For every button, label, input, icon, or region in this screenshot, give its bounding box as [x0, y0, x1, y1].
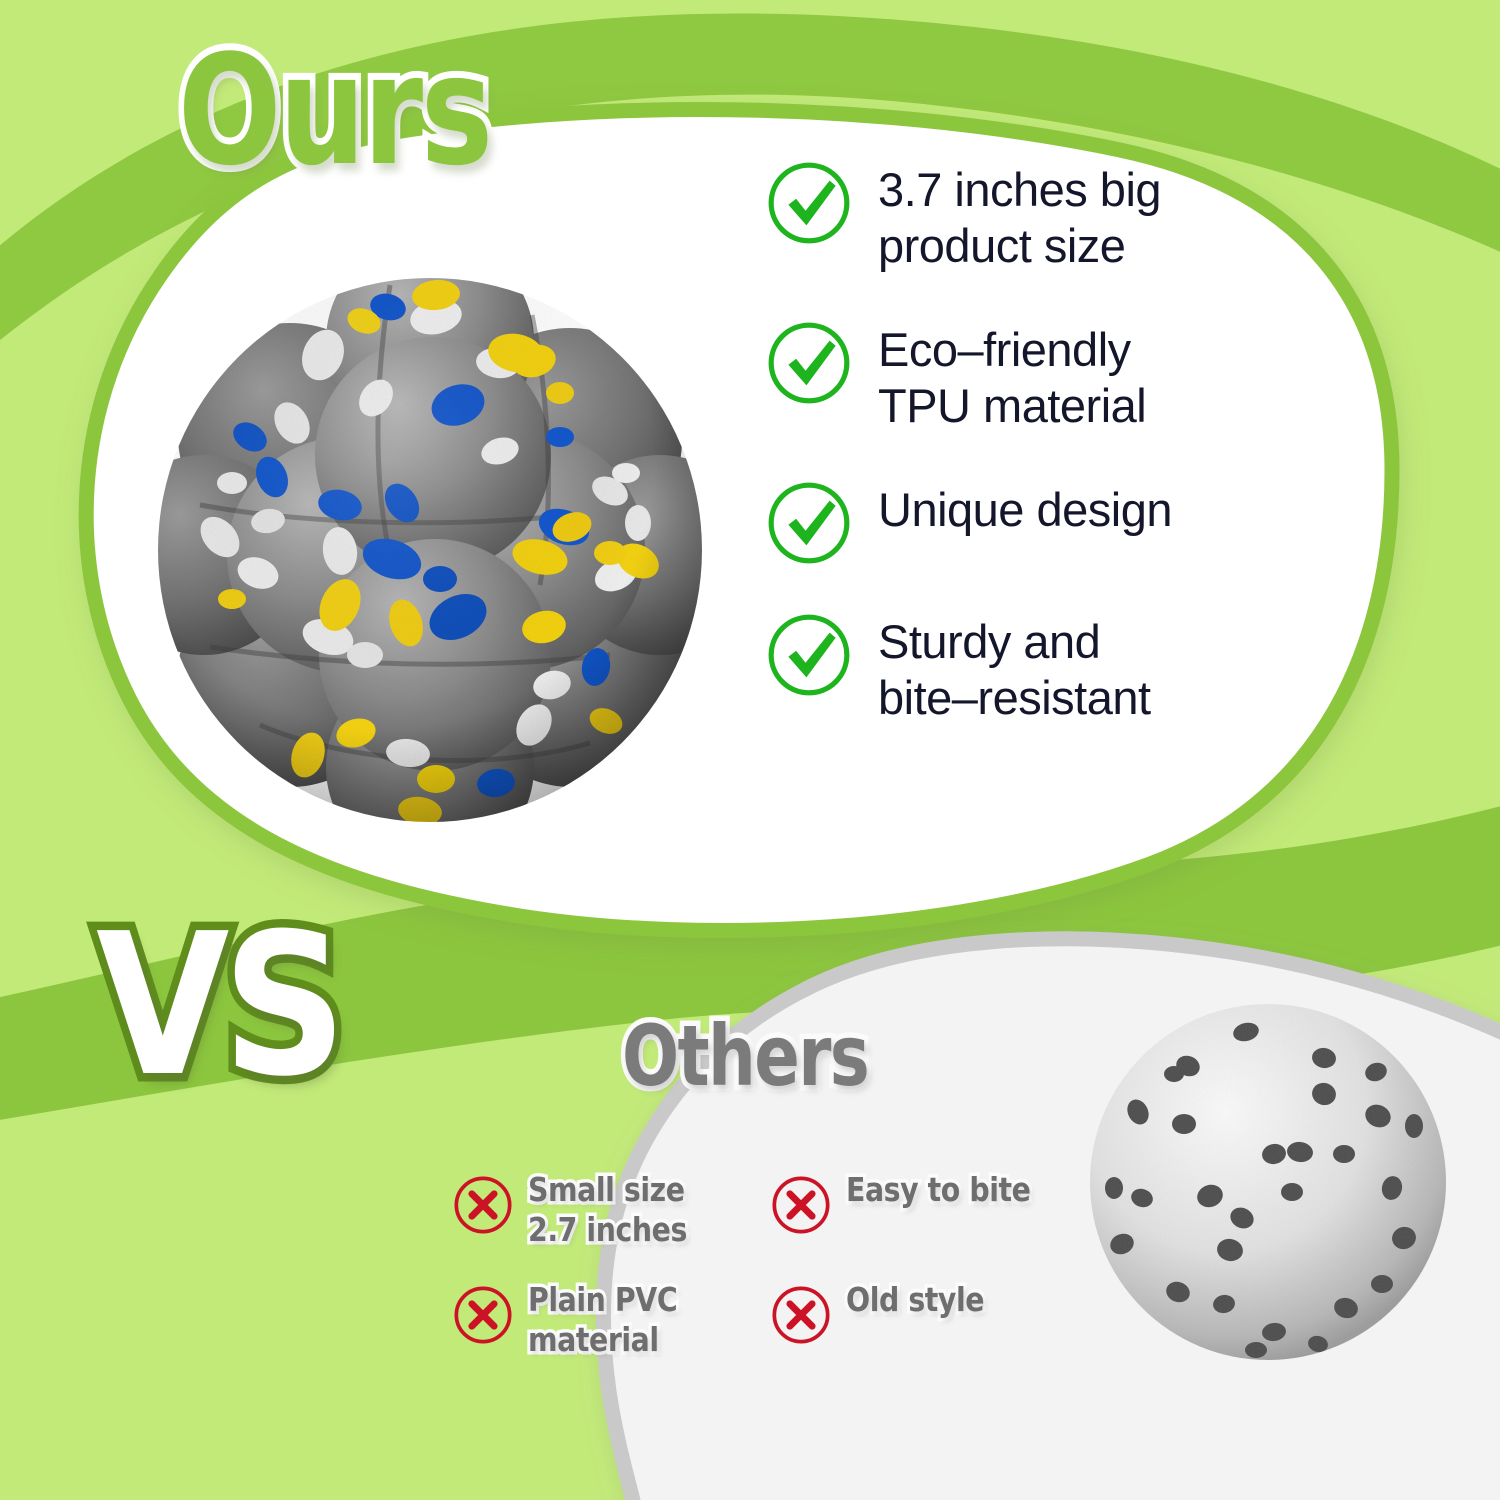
check-circle-icon	[766, 160, 852, 246]
check-circle-icon	[766, 612, 852, 698]
list-item: Small size 2.7 inches	[452, 1168, 752, 1250]
others-title: Others	[622, 1014, 868, 1098]
others-drawback-list: Small size 2.7 inches Easy to bite Plain…	[452, 1168, 1072, 1360]
list-item: Easy to bite	[770, 1168, 1070, 1250]
feature-label: Eco–friendly TPU material	[878, 316, 1146, 434]
vs-badge: VS	[96, 908, 340, 1104]
feature-label: 3.7 inches big product size	[878, 156, 1161, 274]
list-item: Sturdy and bite–resistant	[766, 608, 1326, 726]
x-circle-icon	[770, 1174, 832, 1236]
list-item: Plain PVC material	[452, 1278, 752, 1360]
list-item: 3.7 inches big product size	[766, 156, 1326, 274]
list-item: Unique design	[766, 476, 1326, 566]
drawback-label: Small size 2.7 inches	[528, 1168, 687, 1250]
ours-product-ball	[140, 255, 720, 835]
list-item: Eco–friendly TPU material	[766, 316, 1326, 434]
feature-label: Sturdy and bite–resistant	[878, 608, 1151, 726]
check-circle-icon	[766, 480, 852, 566]
x-circle-icon	[770, 1284, 832, 1346]
drawback-label: Old style	[846, 1278, 984, 1320]
infographic-canvas: Ours VS Others 3.7 inches big product si…	[0, 0, 1500, 1500]
ours-feature-list: 3.7 inches big product size Eco–friendly…	[766, 156, 1326, 726]
feature-label: Unique design	[878, 476, 1172, 538]
ours-title: Ours	[178, 36, 491, 186]
others-product-ball	[1078, 992, 1458, 1372]
check-circle-icon	[766, 320, 852, 406]
drawback-label: Easy to bite	[846, 1168, 1030, 1210]
x-circle-icon	[452, 1284, 514, 1346]
drawback-label: Plain PVC material	[528, 1278, 677, 1360]
list-item: Old style	[770, 1278, 1070, 1360]
x-circle-icon	[452, 1174, 514, 1236]
